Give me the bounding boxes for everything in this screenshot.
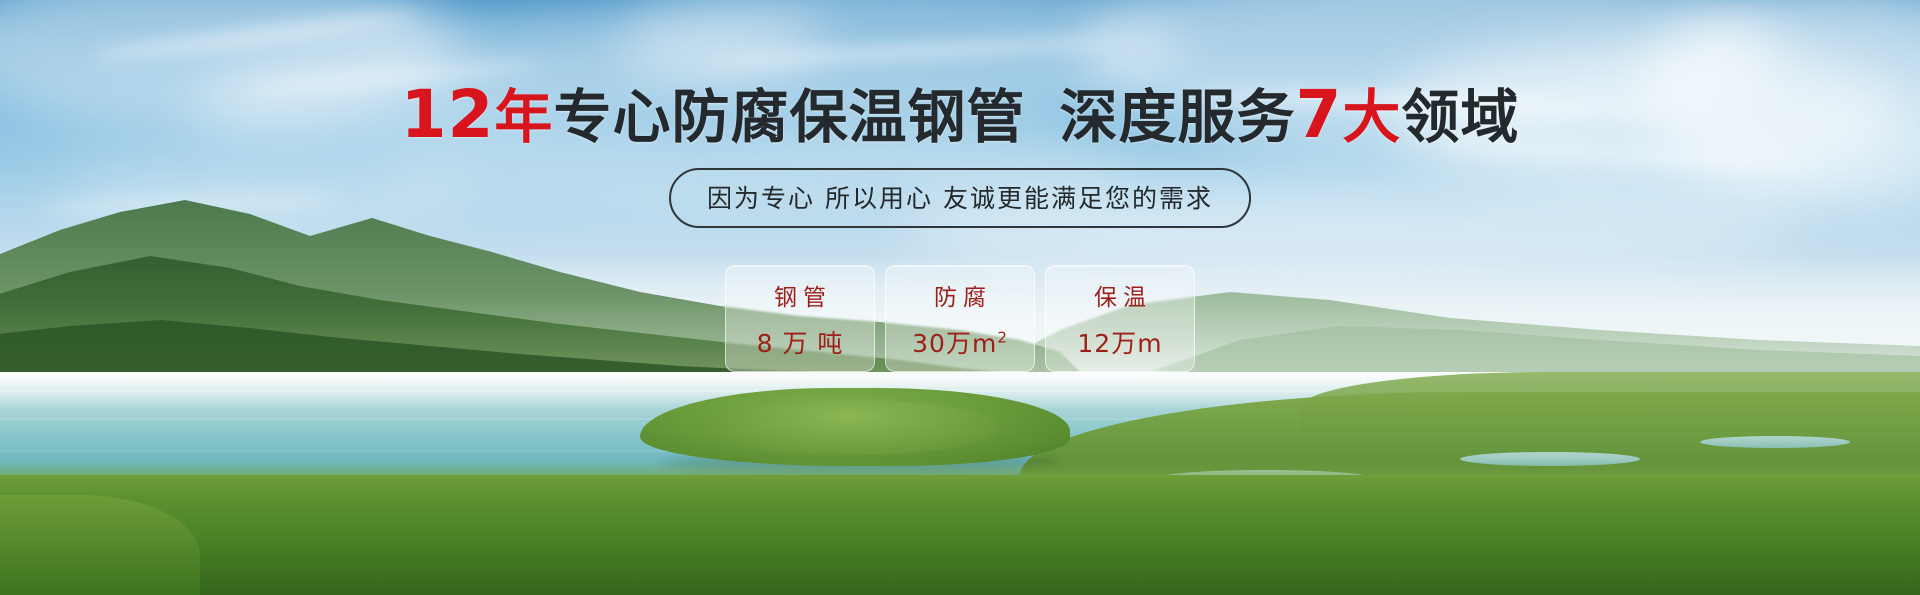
stat-card-label: 防腐: [928, 278, 992, 312]
stat-value-exponent: 2: [997, 328, 1008, 346]
stat-card-anticorrosion: 防腐 30万m2: [885, 265, 1035, 372]
headline-years-number: 12: [401, 76, 495, 153]
hero-banner: 12年专心防腐保温钢管深度服务7大领域 因为专心 所以用心 友诚更能满足您的需求…: [0, 0, 1920, 595]
stat-value-text: 30万m: [912, 329, 997, 358]
stat-value-text: 8 万 吨: [757, 329, 844, 358]
headline-years-unit: 年: [494, 83, 553, 151]
headline-fields-unit: 大: [1342, 83, 1401, 151]
stat-card-value: 8 万 吨: [757, 324, 844, 360]
subtitle-pill: 因为专心 所以用心 友诚更能满足您的需求: [669, 168, 1251, 228]
page-title: 12年专心防腐保温钢管深度服务7大领域: [0, 82, 1920, 148]
stat-card-value: 30万m2: [912, 324, 1008, 360]
stat-card-insulation: 保温 12万m: [1045, 265, 1195, 372]
stat-value-text: 12万m: [1077, 329, 1162, 358]
headline-segment-two: 深度服务: [1059, 83, 1295, 151]
stat-card-label: 保温: [1088, 278, 1152, 312]
headline-fields-number: 7: [1295, 76, 1342, 153]
stats-card-group: 钢管 8 万 吨 防腐 30万m2 保温 12万m: [725, 265, 1195, 372]
stat-card-steel-pipe: 钢管 8 万 吨: [725, 265, 875, 372]
stat-card-label: 钢管: [768, 278, 832, 312]
headline-segment-one: 专心防腐保温钢管: [553, 83, 1025, 151]
banner-content: 12年专心防腐保温钢管深度服务7大领域 因为专心 所以用心 友诚更能满足您的需求…: [0, 0, 1920, 595]
headline-segment-three: 领域: [1401, 83, 1519, 151]
stat-card-value: 12万m: [1077, 324, 1162, 360]
